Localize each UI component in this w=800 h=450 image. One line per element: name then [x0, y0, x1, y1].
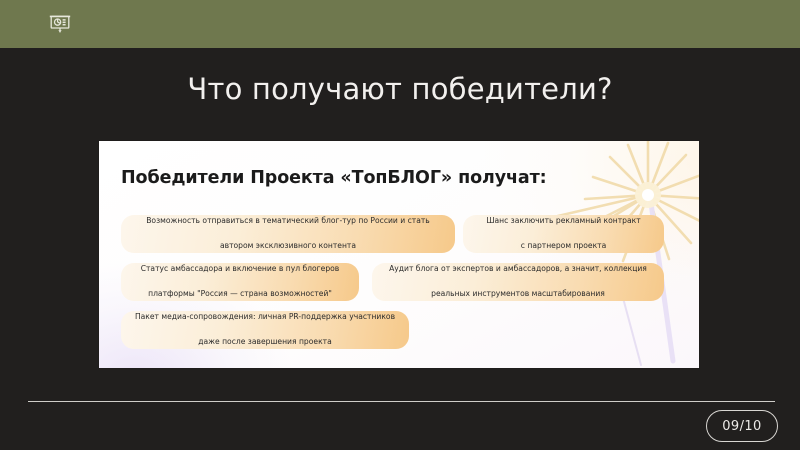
- benefit-pill: Аудит блога от экспертов и амбассадоров,…: [372, 263, 664, 301]
- benefit-line: Пакет медиа-сопровождения: личная PR-под…: [131, 311, 399, 324]
- benefit-pill: Статус амбассадора и включение в пул бло…: [121, 263, 359, 301]
- footer-divider: [28, 401, 775, 402]
- benefit-line: Шанс заключить рекламный контракт: [473, 215, 654, 228]
- benefit-line: Возможность отправиться в тематический б…: [131, 215, 445, 228]
- presentation-chart-icon: [48, 12, 72, 36]
- top-bar: [0, 0, 800, 48]
- benefit-pill: Возможность отправиться в тематический б…: [121, 215, 455, 253]
- benefit-line: платформы "Россия — страна возможностей": [131, 288, 349, 301]
- presentation-slide: Что получают победители?: [0, 0, 800, 450]
- benefit-pill: Пакет медиа-сопровождения: личная PR-под…: [121, 311, 409, 349]
- benefit-line: реальных инструментов масштабирования: [382, 288, 654, 301]
- benefit-line: Статус амбассадора и включение в пул бло…: [131, 263, 349, 276]
- benefit-line: даже после завершения проекта: [131, 336, 399, 349]
- page-indicator: 09/10: [706, 410, 778, 442]
- benefit-line: с партнером проекта: [473, 240, 654, 253]
- benefit-line: Аудит блога от экспертов и амбассадоров,…: [382, 263, 654, 276]
- page-title: Что получают победители?: [0, 72, 800, 106]
- benefit-line: автором эксклюзивного контента: [131, 240, 445, 253]
- sparkler-icon: [523, 141, 699, 368]
- slide-heading: Победители Проекта «ТопБЛОГ» получат:: [121, 168, 547, 188]
- benefit-pill: Шанс заключить рекламный контракт с парт…: [463, 215, 664, 253]
- embedded-slide-image: Победители Проекта «ТопБЛОГ» получат: Во…: [99, 141, 699, 368]
